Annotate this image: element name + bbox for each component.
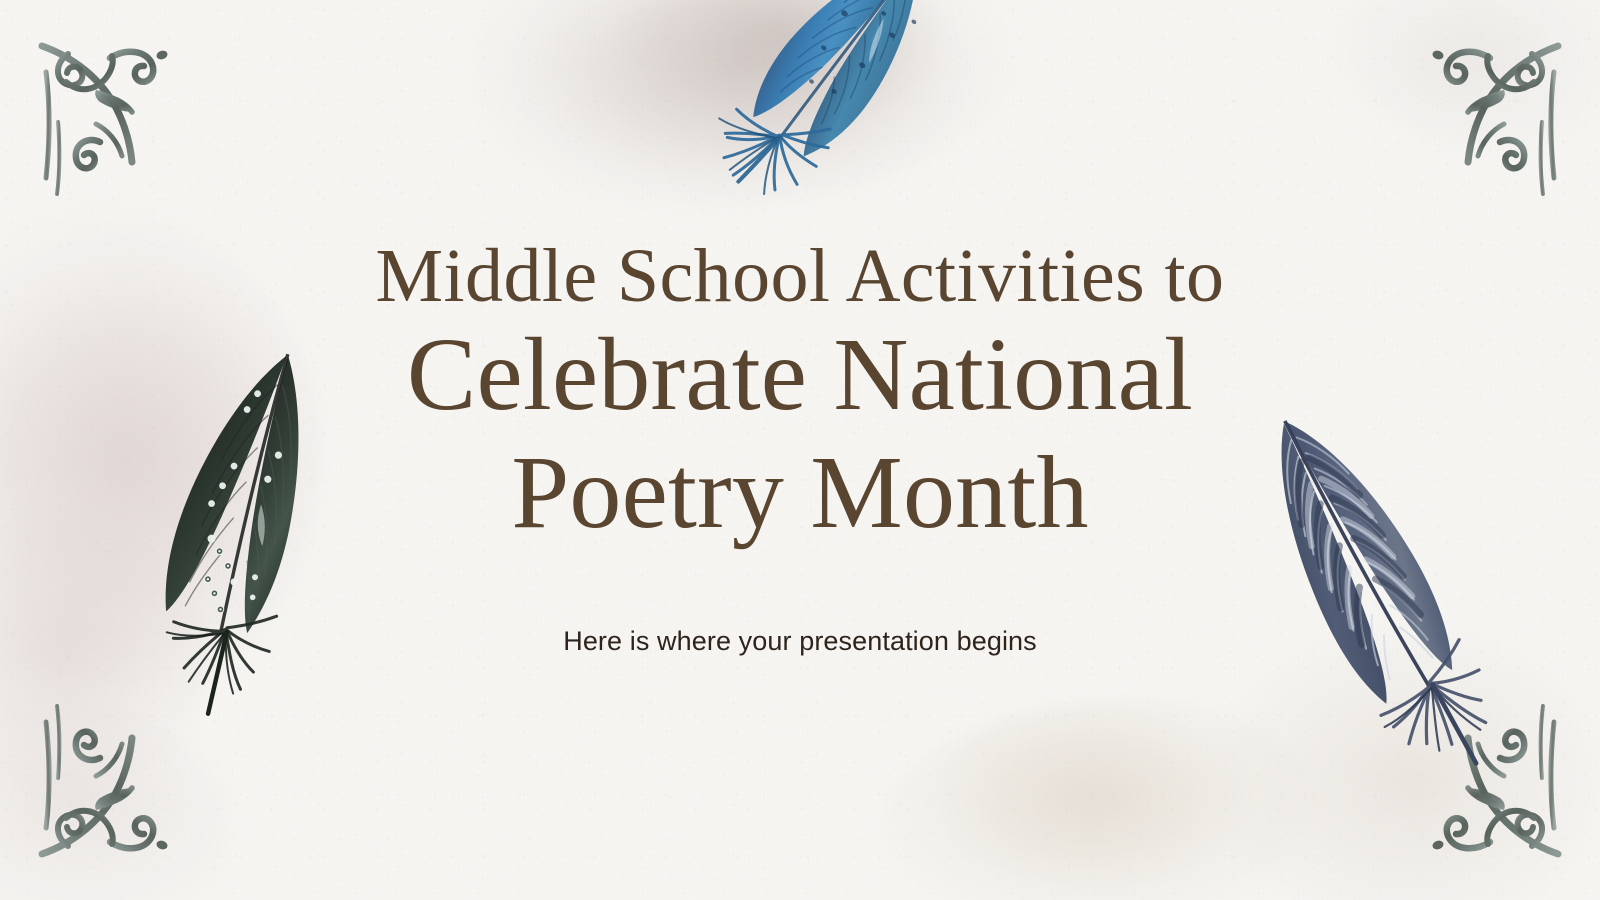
corner-ornament-top-right-icon [1414, 38, 1566, 236]
blue-feather-illustration [690, 0, 990, 218]
subtitle-text: Here is where your presentation begins [0, 626, 1600, 657]
title-block: Middle School Activities to Celebrate Na… [0, 238, 1600, 553]
corner-ornament-top-left-icon [34, 38, 186, 236]
presentation-slide: Middle School Activities to Celebrate Na… [0, 0, 1600, 900]
page-title-line-2: Celebrate National [0, 316, 1600, 435]
page-title-line-3: Poetry Month [0, 434, 1600, 553]
page-title-line-1: Middle School Activities to [0, 238, 1600, 316]
